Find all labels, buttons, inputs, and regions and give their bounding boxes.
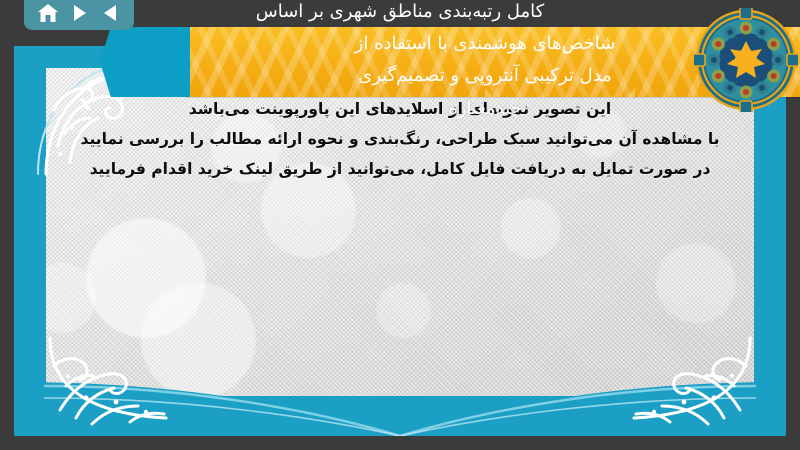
navigation-bar — [24, 0, 134, 30]
slide-stage: این تصویر نمونه‌ای از اسلایدهای این پاور… — [0, 0, 800, 450]
body-line: در صورت تمایل به دریافت فایل کامل، می‌تو… — [46, 154, 754, 184]
banner-tab — [100, 27, 190, 97]
home-icon[interactable] — [35, 1, 61, 25]
body-line: با مشاهده آن می‌توانید سبک طراحی، رنگ‌بن… — [46, 124, 754, 154]
forward-arrow-icon[interactable] — [66, 1, 92, 25]
persian-medallion-icon — [694, 8, 798, 112]
back-arrow-icon[interactable] — [97, 1, 123, 25]
